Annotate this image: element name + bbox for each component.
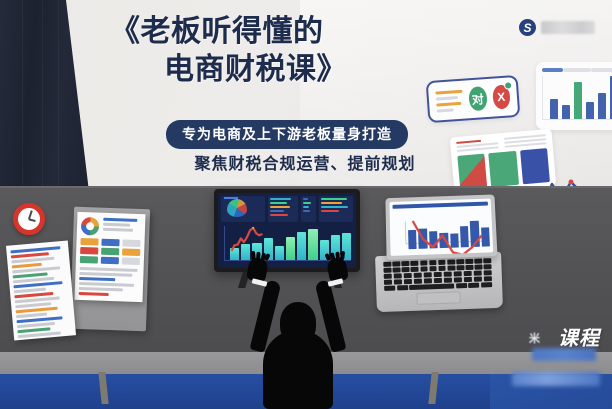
torso xyxy=(263,330,333,409)
s-circle-logo-icon: S xyxy=(519,19,536,36)
bottom-right-redacted-line-2 xyxy=(512,372,600,386)
laptop-lid xyxy=(385,194,497,260)
page-title: 《老板听得懂的 电商财税课》 xyxy=(96,14,456,88)
status-badge: 专为电商及上下游老板量身打造 xyxy=(166,120,408,149)
notification-dot-icon xyxy=(504,81,513,90)
bottom-right-prefix: 米 xyxy=(529,330,540,346)
dashboard-panel-radar xyxy=(221,196,265,222)
laptop-keys xyxy=(383,258,492,290)
shirt-cuff-left xyxy=(252,278,268,286)
x-glyph: X xyxy=(497,90,506,105)
card-bar-plot xyxy=(542,76,612,120)
brand-name-redacted xyxy=(541,21,595,34)
businessman-silhouette-icon xyxy=(222,258,374,409)
check-circle-icon: 对 xyxy=(468,86,487,111)
headline-line-1: 《老板听得懂的 xyxy=(96,14,456,50)
bottom-right-title: 课程 xyxy=(558,322,600,351)
laptop-trackpad xyxy=(416,291,460,305)
floating-bar-chart-card xyxy=(536,62,612,130)
laptop-screen xyxy=(389,199,493,256)
tagline: 聚焦财税合规运营、提前规划 xyxy=(160,150,450,174)
paper-donut-chart xyxy=(81,217,100,236)
poster-canvas: 《老板听得懂的 电商财税课》 专为电商及上下游老板量身打造 聚焦财税合规运营、提… xyxy=(0,0,612,409)
laptop-keyboard-base xyxy=(375,252,503,312)
report-sheet-left xyxy=(6,240,76,340)
wall-clock-icon xyxy=(13,203,45,235)
report-sheet-right xyxy=(74,212,145,302)
dashboard-panel-list xyxy=(268,196,298,222)
approval-card: 对 X xyxy=(426,75,521,123)
card-header xyxy=(542,68,612,72)
brand-logo: S xyxy=(519,19,595,36)
dashboard-top-row xyxy=(221,196,353,222)
laptop-screen-header xyxy=(392,202,488,209)
headline-line-2: 电商财税课》 xyxy=(96,52,456,88)
dashboard-panel-metrics xyxy=(301,196,316,222)
laptop-icon xyxy=(376,196,502,314)
bottom-right-redacted-line-1 xyxy=(532,348,596,361)
x-circle-icon: X xyxy=(492,84,511,109)
approval-card-lines xyxy=(435,89,463,112)
dashboard-panel-legend xyxy=(319,196,353,222)
laptop-bar-chart xyxy=(399,208,490,249)
